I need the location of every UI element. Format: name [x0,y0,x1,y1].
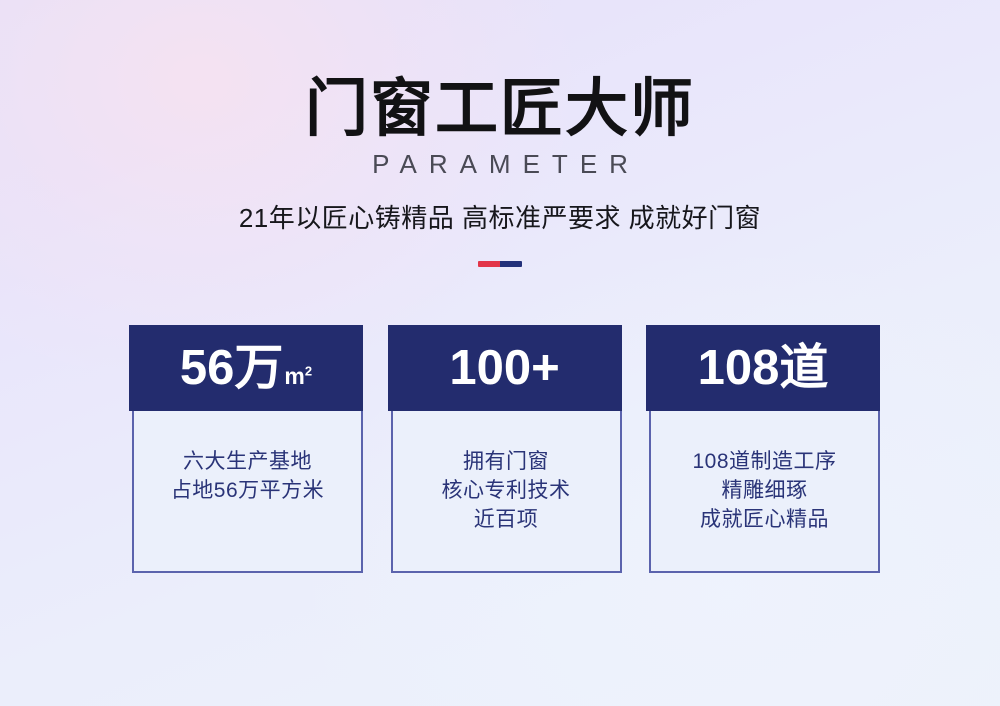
heading-block: 门窗工匠大师 PARAMETER 21年以匠心铸精品 高标准严要求 成就好门窗 [0,74,1000,235]
stat-card-description-line: 精雕细琢 [692,476,836,505]
stat-card-unit-superscript: 2 [305,363,312,378]
stat-card-unit-text: m [284,363,304,389]
page-subtitle: PARAMETER [0,149,1000,179]
stat-card-description: 六大生产基地 占地56万平方米 [171,447,324,505]
stat-card: 100+ 拥有门窗 核心专利技术 近百项 [391,325,622,573]
page-tagline: 21年以匠心铸精品 高标准严要求 成就好门窗 [0,201,1000,235]
stat-card-description-line: 成就匠心精品 [692,505,836,534]
stat-card-value-number: 100+ [449,342,559,394]
stat-card-value-number: 108道 [698,342,829,394]
stat-card-description-line: 占地56万平方米 [171,476,324,505]
stat-card-description-line: 拥有门窗 [442,447,571,476]
stat-card-description: 拥有门窗 核心专利技术 近百项 [442,447,571,534]
stat-card-list: 56万 m2 六大生产基地 占地56万平方米 100+ [132,325,880,573]
divider-segment-right [500,261,522,267]
stat-card: 108道 108道制造工序 精雕细琢 成就匠心精品 [649,325,880,573]
stat-card-header: 100+ [388,325,622,411]
stat-card-value-unit: m2 [284,365,312,388]
parameter-section: 门窗工匠大师 PARAMETER 21年以匠心铸精品 高标准严要求 成就好门窗 … [0,0,1000,706]
divider-segment-left [478,261,500,267]
stat-card-description: 108道制造工序 精雕细琢 成就匠心精品 [692,447,836,534]
stat-card-header: 56万 m2 [129,325,363,411]
stat-card: 56万 m2 六大生产基地 占地56万平方米 [132,325,363,573]
stat-card-value: 108道 [698,342,829,394]
stat-card-description-line: 核心专利技术 [442,476,571,505]
divider [478,261,522,267]
stat-card-description-line: 近百项 [442,505,571,534]
stat-card-description-line: 六大生产基地 [171,447,324,476]
stat-card-header: 108道 [646,325,880,411]
stat-card-description-line: 108道制造工序 [692,447,836,476]
stat-card-value: 56万 m2 [180,342,312,394]
page-title: 门窗工匠大师 [0,74,1000,144]
stat-card-value: 100+ [449,342,559,394]
stat-card-value-number: 56万 [180,342,284,394]
